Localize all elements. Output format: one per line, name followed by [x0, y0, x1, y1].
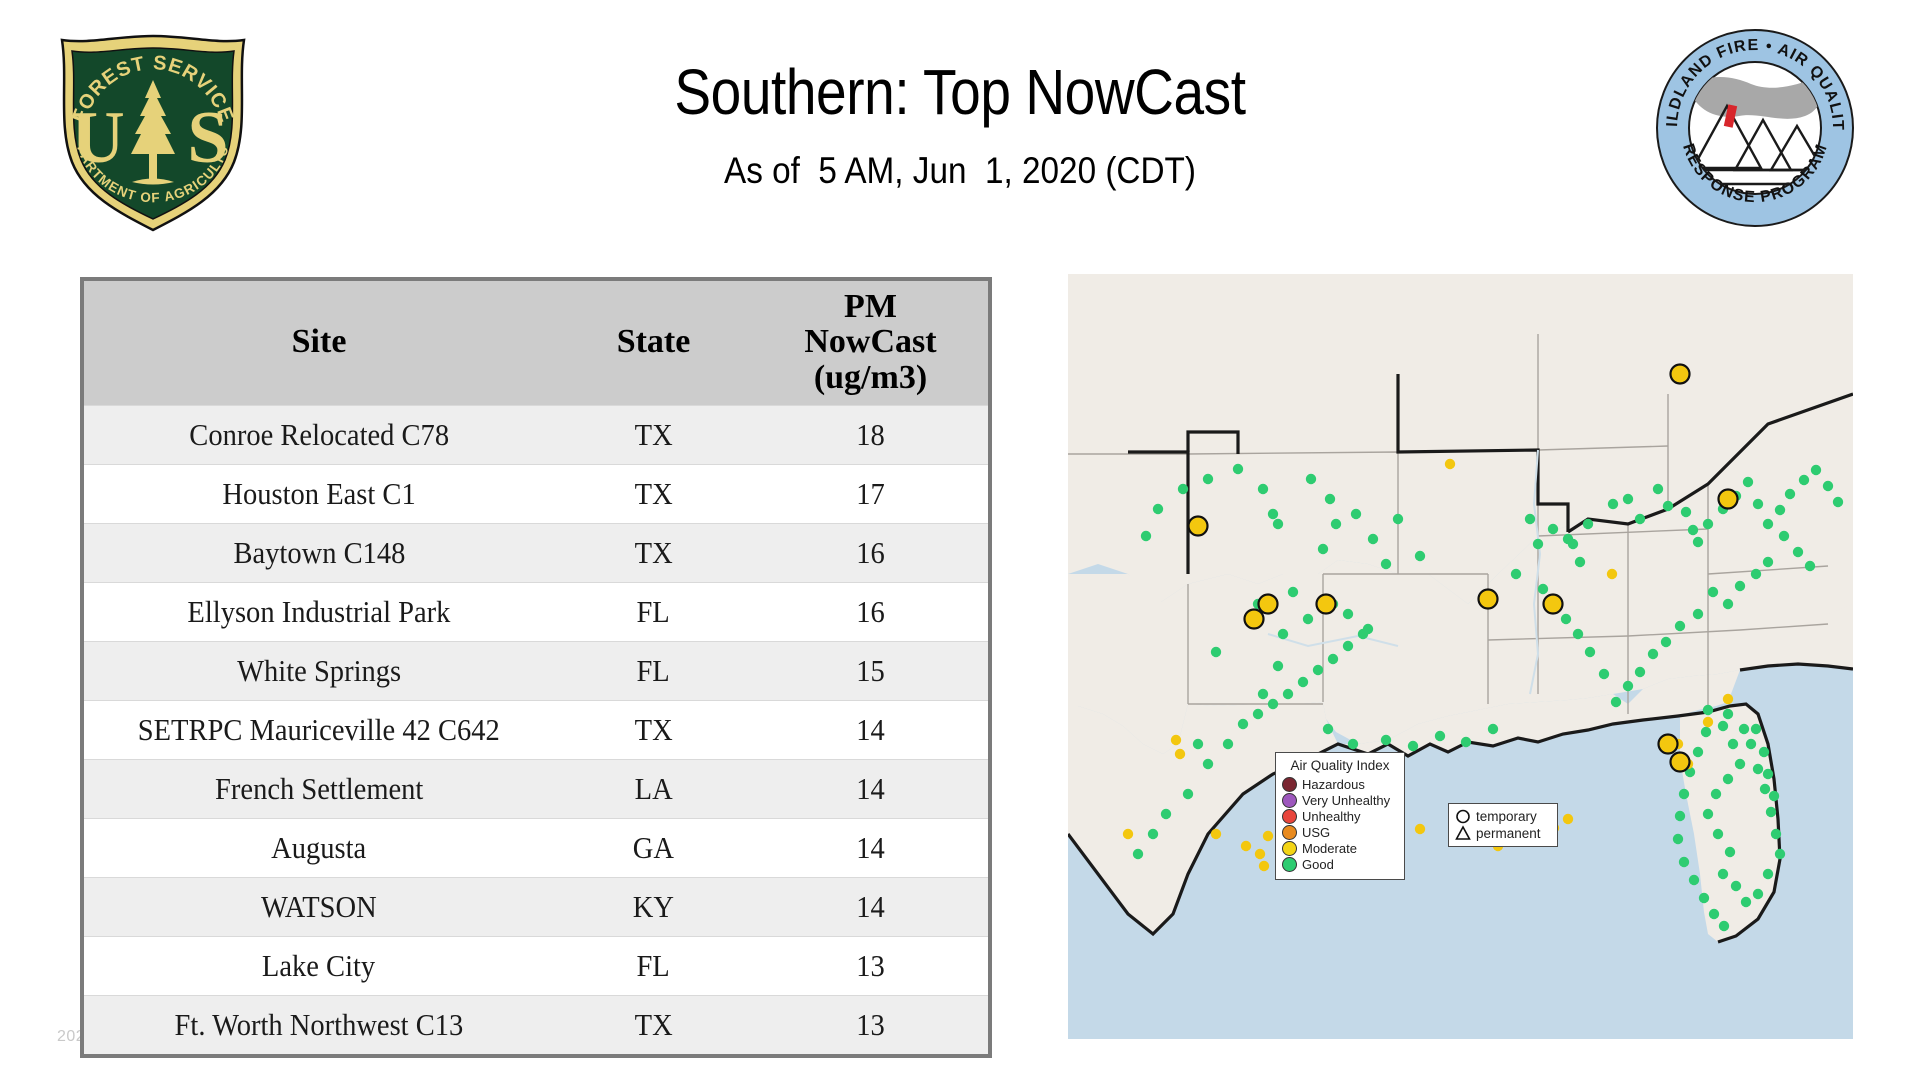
monitor-dot-good[interactable]	[1635, 514, 1645, 524]
monitor-dot-good[interactable]	[1663, 501, 1673, 511]
monitor-dot-good[interactable]	[1511, 569, 1521, 579]
monitor-dot-moderate[interactable]	[1171, 735, 1181, 745]
legend-row-moderate: Moderate	[1282, 841, 1398, 856]
triangle-outline-icon	[1455, 825, 1471, 842]
monitor-dot-good[interactable]	[1701, 727, 1711, 737]
legend-row-very-unhealthy: Very Unhealthy	[1282, 793, 1398, 808]
monitor-dot-good[interactable]	[1785, 489, 1795, 499]
monitor-dot-good[interactable]	[1323, 724, 1333, 734]
monitor-dot-good[interactable]	[1753, 499, 1763, 509]
monitor-dot-good[interactable]	[1693, 537, 1703, 547]
monitor-dot-good[interactable]	[1708, 587, 1718, 597]
monitor-dot-good[interactable]	[1805, 561, 1815, 571]
monitor-dot-good[interactable]	[1258, 689, 1268, 699]
monitor-dot-good[interactable]	[1233, 464, 1243, 474]
state-cell: TX	[554, 465, 753, 524]
monitor-dot-good[interactable]	[1278, 629, 1288, 639]
monitor-dot-good[interactable]	[1238, 719, 1248, 729]
monitor-dot-moderate[interactable]	[1175, 749, 1185, 759]
monitor-dot-good[interactable]	[1223, 739, 1233, 749]
monitor-dot-good[interactable]	[1298, 677, 1308, 687]
monitor-dot-good[interactable]	[1766, 807, 1776, 817]
monitor-dot-good[interactable]	[1823, 481, 1833, 491]
table-header-row: Site State PM NowCast (ug/m3)	[84, 281, 988, 406]
pm-cell: 14	[753, 760, 988, 819]
monitor-dot-good[interactable]	[1599, 669, 1609, 679]
monitor-dot-good[interactable]	[1751, 569, 1761, 579]
monitor-dot-good[interactable]	[1718, 869, 1728, 879]
site-cell: French Settlement	[84, 760, 554, 819]
map-legend-monitor-type: temporary permanent	[1448, 803, 1558, 847]
monitor-dot-good[interactable]	[1583, 519, 1593, 529]
legend-label-temporary: temporary	[1476, 809, 1537, 825]
monitor-dot-good[interactable]	[1763, 869, 1773, 879]
monitor-dot-good[interactable]	[1679, 789, 1689, 799]
column-header-pm-nowcast: PM NowCast (ug/m3)	[753, 281, 988, 406]
legend-label: Moderate	[1302, 842, 1357, 856]
monitor-dot-good[interactable]	[1193, 739, 1203, 749]
pm-cell: 17	[753, 465, 988, 524]
monitor-dot-moderate[interactable]	[1415, 824, 1425, 834]
table-row: AugustaGA14	[84, 819, 988, 878]
monitor-dot-moderate-top[interactable]	[1189, 517, 1208, 536]
monitor-dot-good[interactable]	[1343, 609, 1353, 619]
monitor-dot-good[interactable]	[1723, 774, 1733, 784]
state-cell: FL	[554, 937, 753, 996]
monitor-dot-good[interactable]	[1703, 519, 1713, 529]
monitor-dot-good[interactable]	[1303, 614, 1313, 624]
pm-header-line-3: (ug/m3)	[753, 360, 988, 395]
monitor-dot-good[interactable]	[1623, 494, 1633, 504]
monitor-dot-good[interactable]	[1799, 475, 1809, 485]
monitor-dot-good[interactable]	[1351, 509, 1361, 519]
state-cell: FL	[554, 583, 753, 642]
monitor-dot-good[interactable]	[1709, 909, 1719, 919]
monitor-dot-good[interactable]	[1731, 881, 1741, 891]
monitor-dot-good[interactable]	[1381, 735, 1391, 745]
legend-label: Very Unhealthy	[1302, 794, 1390, 808]
column-header-state: State	[554, 281, 753, 406]
monitor-dot-good[interactable]	[1561, 614, 1571, 624]
site-cell: Augusta	[84, 819, 554, 878]
monitor-dot-good[interactable]	[1203, 759, 1213, 769]
monitor-dot-good[interactable]	[1343, 641, 1353, 651]
monitor-dot-good[interactable]	[1211, 647, 1221, 657]
monitor-dot-good[interactable]	[1331, 519, 1341, 529]
legend-row-good: Good	[1282, 857, 1398, 872]
pm-cell: 18	[753, 406, 988, 465]
monitor-dot-good[interactable]	[1318, 544, 1328, 554]
monitor-dot-good[interactable]	[1608, 499, 1618, 509]
monitor-dot-moderate[interactable]	[1259, 861, 1269, 871]
monitor-dot-good[interactable]	[1288, 587, 1298, 597]
monitor-dot-moderate-top[interactable]	[1671, 365, 1690, 384]
table-body: Conroe Relocated C78TX18Houston East C1T…	[84, 406, 988, 1055]
monitor-dot-good[interactable]	[1688, 525, 1698, 535]
top-nowcast-table: Site State PM NowCast (ug/m3) Conroe Rel…	[80, 277, 992, 1058]
monitor-dot-good[interactable]	[1763, 769, 1773, 779]
monitor-dot-good[interactable]	[1753, 889, 1763, 899]
monitor-dot-good[interactable]	[1653, 484, 1663, 494]
monitor-dot-good[interactable]	[1718, 721, 1728, 731]
pm-cell: 16	[753, 524, 988, 583]
monitor-dot-good[interactable]	[1253, 709, 1263, 719]
legend-label: Good	[1302, 858, 1334, 872]
legend-title: Air Quality Index	[1282, 758, 1398, 773]
monitor-dot-good[interactable]	[1306, 474, 1316, 484]
site-cell: WATSON	[84, 878, 554, 937]
monitor-dot-good[interactable]	[1779, 531, 1789, 541]
monitor-dot-good[interactable]	[1719, 921, 1729, 931]
monitor-dot-moderate[interactable]	[1563, 814, 1573, 824]
monitor-dot-good[interactable]	[1573, 629, 1583, 639]
monitor-dot-good[interactable]	[1681, 507, 1691, 517]
legend-row-usg: USG	[1282, 825, 1398, 840]
page-subtitle: As of 5 AM, Jun 1, 2020 (CDT)	[96, 150, 1824, 192]
monitor-dot-good[interactable]	[1268, 699, 1278, 709]
table-row: SETRPC Mauriceville 42 C642TX14	[84, 701, 988, 760]
monitor-dot-good[interactable]	[1273, 519, 1283, 529]
monitor-dot-good[interactable]	[1675, 621, 1685, 631]
state-cell: TX	[554, 406, 753, 465]
state-cell: LA	[554, 760, 753, 819]
monitor-dot-good[interactable]	[1760, 784, 1770, 794]
state-cell: FL	[554, 642, 753, 701]
table-row: Lake CityFL13	[84, 937, 988, 996]
monitor-dot-good[interactable]	[1739, 724, 1749, 734]
monitor-dot-good[interactable]	[1611, 697, 1621, 707]
legend-swatch-icon	[1282, 841, 1297, 856]
monitor-dot-moderate[interactable]	[1263, 831, 1273, 841]
monitor-dot-moderate-top[interactable]	[1719, 490, 1738, 509]
state-cell: TX	[554, 996, 753, 1055]
monitor-dot-good[interactable]	[1328, 654, 1338, 664]
table-row: Houston East C1TX17	[84, 465, 988, 524]
monitor-dot-good[interactable]	[1415, 551, 1425, 561]
site-cell: Ellyson Industrial Park	[84, 583, 554, 642]
monitor-dot-good[interactable]	[1735, 759, 1745, 769]
monitor-dot-moderate-top[interactable]	[1544, 595, 1563, 614]
legend-swatch-icon	[1282, 793, 1297, 808]
monitor-dot-good[interactable]	[1759, 747, 1769, 757]
monitor-dot-good[interactable]	[1183, 789, 1193, 799]
monitor-dot-good[interactable]	[1148, 829, 1158, 839]
monitor-dot-moderate-top[interactable]	[1671, 753, 1690, 772]
table-head: Site State PM NowCast (ug/m3)	[84, 281, 988, 406]
monitor-dot-good[interactable]	[1393, 514, 1403, 524]
monitor-dot-good[interactable]	[1833, 497, 1843, 507]
monitor-dot-good[interactable]	[1325, 494, 1335, 504]
state-cell: GA	[554, 819, 753, 878]
circle-outline-icon	[1455, 808, 1471, 825]
monitor-dot-good[interactable]	[1763, 519, 1773, 529]
monitor-dot-good[interactable]	[1268, 509, 1278, 519]
monitor-dot-moderate[interactable]	[1211, 829, 1221, 839]
table-row: WATSONKY14	[84, 878, 988, 937]
monitor-dot-moderate-top[interactable]	[1317, 595, 1336, 614]
monitor-dot-good[interactable]	[1533, 539, 1543, 549]
monitor-dot-good[interactable]	[1693, 747, 1703, 757]
monitor-dot-good[interactable]	[1775, 505, 1785, 515]
monitor-dot-good[interactable]	[1525, 514, 1535, 524]
monitor-dot-good[interactable]	[1435, 731, 1445, 741]
map-legend-air-quality-index: Air Quality Index HazardousVery Unhealth…	[1275, 752, 1405, 880]
monitor-dot-good[interactable]	[1408, 741, 1418, 751]
monitor-dot-good[interactable]	[1585, 647, 1595, 657]
site-cell: Ft. Worth Northwest C13	[84, 996, 554, 1055]
monitor-dot-good[interactable]	[1161, 809, 1171, 819]
monitor-dot-good[interactable]	[1769, 791, 1779, 801]
monitor-dot-good[interactable]	[1689, 875, 1699, 885]
monitor-dot-good[interactable]	[1575, 557, 1585, 567]
legend-row-permanent: permanent	[1455, 825, 1551, 842]
monitor-dot-good[interactable]	[1661, 637, 1671, 647]
legend-label-permanent: permanent	[1476, 826, 1541, 842]
monitor-dot-good[interactable]	[1258, 484, 1268, 494]
monitor-dot-good[interactable]	[1348, 739, 1358, 749]
monitor-dot-moderate-top[interactable]	[1245, 610, 1264, 629]
monitor-dot-good[interactable]	[1153, 504, 1163, 514]
monitor-dot-good[interactable]	[1568, 539, 1578, 549]
monitor-dot-good[interactable]	[1538, 584, 1548, 594]
site-cell: Houston East C1	[84, 465, 554, 524]
monitor-dot-good[interactable]	[1713, 829, 1723, 839]
state-cell: TX	[554, 524, 753, 583]
pm-cell: 15	[753, 642, 988, 701]
monitor-dot-good[interactable]	[1648, 649, 1658, 659]
table-row: White SpringsFL15	[84, 642, 988, 701]
site-cell: Lake City	[84, 937, 554, 996]
table: Site State PM NowCast (ug/m3) Conroe Rel…	[84, 281, 988, 1054]
pm-header-line-1: PM	[753, 289, 988, 324]
pm-cell: 14	[753, 819, 988, 878]
pm-header-line-2: NowCast	[753, 324, 988, 359]
pm-cell: 14	[753, 878, 988, 937]
legend-label: Unhealthy	[1302, 810, 1361, 824]
legend-label: USG	[1302, 826, 1330, 840]
monitor-dot-good[interactable]	[1775, 849, 1785, 859]
monitor-dot-good[interactable]	[1743, 477, 1753, 487]
monitor-dot-good[interactable]	[1725, 847, 1735, 857]
monitor-dot-good[interactable]	[1741, 897, 1751, 907]
table-row: French SettlementLA14	[84, 760, 988, 819]
legend-row-temporary: temporary	[1455, 808, 1551, 825]
monitor-dot-good[interactable]	[1313, 665, 1323, 675]
monitor-dot-moderate[interactable]	[1445, 459, 1455, 469]
monitor-dot-good[interactable]	[1358, 629, 1368, 639]
monitor-dot-good[interactable]	[1461, 737, 1471, 747]
monitor-dot-good[interactable]	[1675, 811, 1685, 821]
state-cell: TX	[554, 701, 753, 760]
column-header-site: Site	[84, 281, 554, 406]
monitor-dot-good[interactable]	[1751, 724, 1761, 734]
monitor-dot-good[interactable]	[1711, 789, 1721, 799]
monitor-dot-good[interactable]	[1753, 764, 1763, 774]
monitor-dot-good[interactable]	[1793, 547, 1803, 557]
monitor-dot-moderate[interactable]	[1123, 829, 1133, 839]
site-cell: Baytown C148	[84, 524, 554, 583]
pm-cell: 16	[753, 583, 988, 642]
monitor-dot-good[interactable]	[1488, 724, 1498, 734]
legend-row-unhealthy: Unhealthy	[1282, 809, 1398, 824]
monitor-dot-good[interactable]	[1703, 705, 1713, 715]
table-row: Ft. Worth Northwest C13TX13	[84, 996, 988, 1055]
pm-cell: 13	[753, 937, 988, 996]
monitor-dot-good[interactable]	[1679, 857, 1689, 867]
monitor-dot-moderate[interactable]	[1255, 849, 1265, 859]
legend-swatch-icon	[1282, 825, 1297, 840]
monitor-dot-good[interactable]	[1728, 739, 1738, 749]
monitor-dot-moderate-top[interactable]	[1479, 590, 1498, 609]
monitor-dot-good[interactable]	[1771, 829, 1781, 839]
monitor-dot-good[interactable]	[1723, 599, 1733, 609]
monitor-dot-good[interactable]	[1368, 534, 1378, 544]
monitor-dot-good[interactable]	[1548, 524, 1558, 534]
monitor-dot-good[interactable]	[1141, 531, 1151, 541]
monitor-dot-good[interactable]	[1811, 465, 1821, 475]
monitor-dot-good[interactable]	[1133, 849, 1143, 859]
monitor-dot-good[interactable]	[1735, 581, 1745, 591]
legend-swatch-icon	[1282, 777, 1297, 792]
monitor-dot-good[interactable]	[1203, 474, 1213, 484]
monitor-dot-good[interactable]	[1623, 681, 1633, 691]
legend-row-hazardous: Hazardous	[1282, 777, 1398, 792]
monitor-dot-moderate[interactable]	[1607, 569, 1617, 579]
monitor-dot-good[interactable]	[1703, 809, 1713, 819]
monitor-dot-moderate[interactable]	[1703, 717, 1713, 727]
page-title: Southern: Top NowCast	[134, 55, 1785, 129]
monitor-dot-moderate[interactable]	[1241, 841, 1251, 851]
monitor-dot-good[interactable]	[1723, 709, 1733, 719]
table-row: Conroe Relocated C78TX18	[84, 406, 988, 465]
monitor-dot-moderate[interactable]	[1723, 694, 1733, 704]
monitor-dot-good[interactable]	[1673, 834, 1683, 844]
monitor-dot-moderate-top[interactable]	[1259, 595, 1278, 614]
table-row: Ellyson Industrial ParkFL16	[84, 583, 988, 642]
pm-cell: 13	[753, 996, 988, 1055]
southern-region-monitor-map[interactable]	[1068, 274, 1853, 1039]
monitor-dot-good[interactable]	[1693, 609, 1703, 619]
table-row: Baytown C148TX16	[84, 524, 988, 583]
site-cell: White Springs	[84, 642, 554, 701]
monitor-dot-good[interactable]	[1635, 667, 1645, 677]
pm-cell: 14	[753, 701, 988, 760]
legend-swatch-icon	[1282, 809, 1297, 824]
state-cell: KY	[554, 878, 753, 937]
monitor-dot-good[interactable]	[1699, 893, 1709, 903]
monitor-dot-good[interactable]	[1273, 661, 1283, 671]
monitor-dot-good[interactable]	[1746, 739, 1756, 749]
site-cell: SETRPC Mauriceville 42 C642	[84, 701, 554, 760]
monitor-dot-good[interactable]	[1763, 557, 1773, 567]
monitor-dot-moderate-top[interactable]	[1659, 735, 1678, 754]
site-cell: Conroe Relocated C78	[84, 406, 554, 465]
monitor-dot-good[interactable]	[1283, 689, 1293, 699]
legend-label: Hazardous	[1302, 778, 1365, 792]
monitor-dot-good[interactable]	[1381, 559, 1391, 569]
legend-swatch-icon	[1282, 857, 1297, 872]
monitor-dot-good[interactable]	[1178, 484, 1188, 494]
